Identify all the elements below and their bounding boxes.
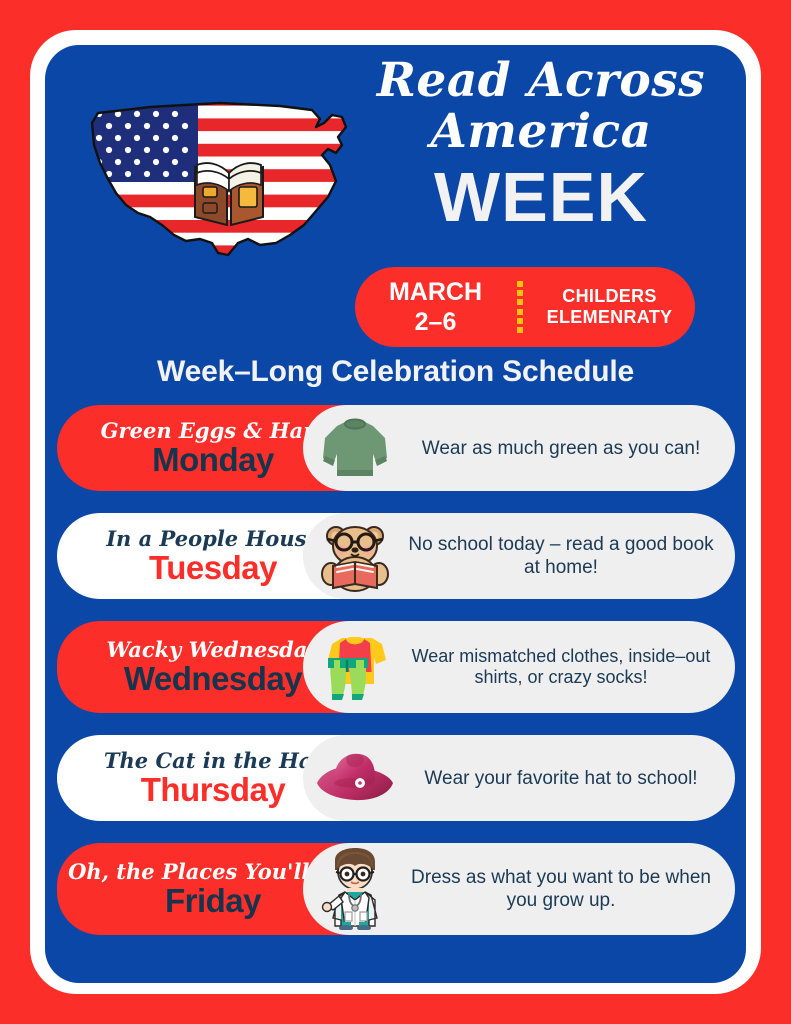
book-title-monday: Green Eggs & Ham xyxy=(101,419,326,442)
book-title-tuesday: In a People House xyxy=(106,527,320,550)
date-school-badge: MARCH 2–6 CHILDERS ELEMENRATY xyxy=(355,267,695,347)
activity-text-friday: Dress as what you want to be when you gr… xyxy=(401,866,721,912)
boy-doctor-icon xyxy=(309,847,401,931)
poster-title-block: Read Across America WEEK xyxy=(345,55,737,233)
book-title-thursday: The Cat in the Hat xyxy=(104,749,322,772)
mismatched-clothes-icon xyxy=(309,625,401,709)
day-name-wednesday: Wednesday xyxy=(124,661,302,697)
poster-header: Read Across America WEEK MARCH 2–6 CHILD… xyxy=(45,45,746,320)
badge-school-line-2: ELEMENRATY xyxy=(530,307,690,328)
usa-flag-map-with-open-book-icon xyxy=(80,93,365,258)
day-name-friday: Friday xyxy=(165,883,261,919)
badge-school-line-1: CHILDERS xyxy=(530,286,690,307)
activity-card-friday: Dress as what you want to be when you gr… xyxy=(303,843,735,935)
bear-reading-book-icon xyxy=(309,514,401,598)
green-sweatshirt-icon xyxy=(309,406,401,490)
day-name-tuesday: Tuesday xyxy=(149,550,277,586)
badge-dates: 2–6 xyxy=(361,307,511,337)
badge-month: MARCH xyxy=(361,277,511,307)
schedule-row-friday: Oh, the Places You'll Go! Friday xyxy=(45,843,746,935)
schedule-subtitle: Week–Long Celebration Schedule xyxy=(45,355,746,389)
poster-root: Read Across America WEEK MARCH 2–6 CHILD… xyxy=(0,0,791,1024)
schedule-row-monday: Green Eggs & Ham Monday xyxy=(45,405,746,491)
poster-blue-panel: Read Across America WEEK MARCH 2–6 CHILD… xyxy=(45,45,746,983)
badge-date-group: MARCH 2–6 xyxy=(361,277,511,337)
schedule-row-tuesday: In a People House Tuesday xyxy=(45,513,746,599)
pink-cowboy-hat-icon xyxy=(309,736,401,820)
title-week-word: WEEK xyxy=(345,161,737,233)
badge-school-group: CHILDERS ELEMENRATY xyxy=(530,286,690,328)
yellow-dotted-divider xyxy=(517,281,524,333)
activity-card-tuesday: No school today – read a good book at ho… xyxy=(303,513,735,599)
book-title-wednesday: Wacky Wednesday xyxy=(106,638,319,661)
activity-card-thursday: Wear your favorite hat to school! xyxy=(303,735,735,821)
activity-text-thursday: Wear your favorite hat to school! xyxy=(401,767,721,790)
day-name-monday: Monday xyxy=(152,442,274,478)
activity-text-tuesday: No school today – read a good book at ho… xyxy=(401,533,721,579)
activity-text-wednesday: Wear mismatched clothes, inside–out shir… xyxy=(401,646,721,688)
title-script-line-2: America xyxy=(345,106,737,157)
activity-text-monday: Wear as much green as you can! xyxy=(401,437,721,460)
schedule-row-wednesday: Wacky Wednesday Wednesday xyxy=(45,621,746,713)
activity-card-wednesday: Wear mismatched clothes, inside–out shir… xyxy=(303,621,735,713)
day-name-thursday: Thursday xyxy=(141,772,286,808)
schedule-list: Green Eggs & Ham Monday xyxy=(45,405,746,957)
title-script-line-1: Read Across xyxy=(345,55,737,106)
activity-card-monday: Wear as much green as you can! xyxy=(303,405,735,491)
schedule-row-thursday: The Cat in the Hat Thursday xyxy=(45,735,746,821)
